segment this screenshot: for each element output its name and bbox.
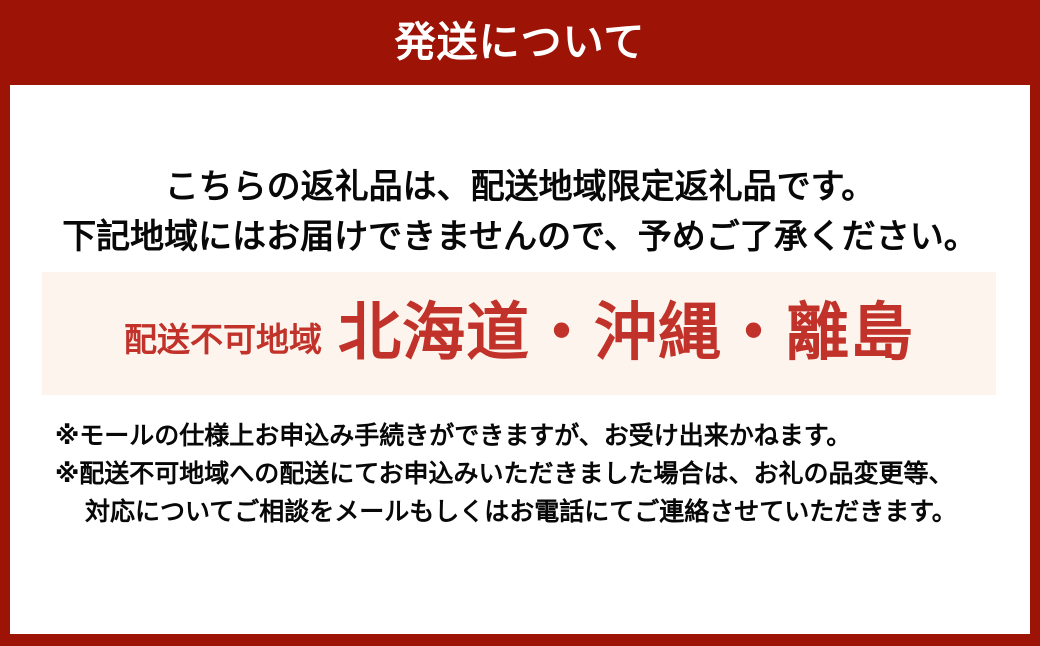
content-area: こちらの返礼品は、配送地域限定返礼品です。 下記地域にはお届けできませんので、予… — [10, 85, 1030, 634]
header-band: 発送について — [0, 0, 1040, 85]
page-title: 発送について — [395, 22, 646, 63]
footnotes: ※モールの仕様上お申込み手続きができますが、お受け出来かねます。 ※配送不可地域… — [55, 417, 1015, 531]
footnote-line-2: ※配送不可地域への配送にてお申込みいただきました場合は、お礼の品変更等、 — [55, 455, 1015, 493]
frame-border-bottom — [0, 634, 1040, 646]
lead-line-2: 下記地域にはお届けできませんので、予めご了承ください。 — [10, 212, 1030, 262]
frame-border-right — [1030, 85, 1040, 646]
frame-border-left — [0, 85, 10, 646]
footnote-line-3: 対応についてご相談をメールもしくはお電話にてご連絡させていただきます。 — [55, 493, 1015, 531]
restricted-area-band: 配送不可地域 北海道・沖縄・離島 — [42, 272, 996, 395]
restricted-area-label: 配送不可地域 — [124, 313, 322, 361]
restricted-area-regions: 北海道・沖縄・離島 — [338, 302, 914, 365]
footnote-line-1: ※モールの仕様上お申込み手続きができますが、お受け出来かねます。 — [55, 417, 1015, 455]
lead-line-1: こちらの返礼品は、配送地域限定返礼品です。 — [10, 162, 1030, 212]
shipping-notice-card: 発送について こちらの返礼品は、配送地域限定返礼品です。 下記地域にはお届けでき… — [0, 0, 1040, 646]
lead-paragraph: こちらの返礼品は、配送地域限定返礼品です。 下記地域にはお届けできませんので、予… — [10, 162, 1030, 262]
